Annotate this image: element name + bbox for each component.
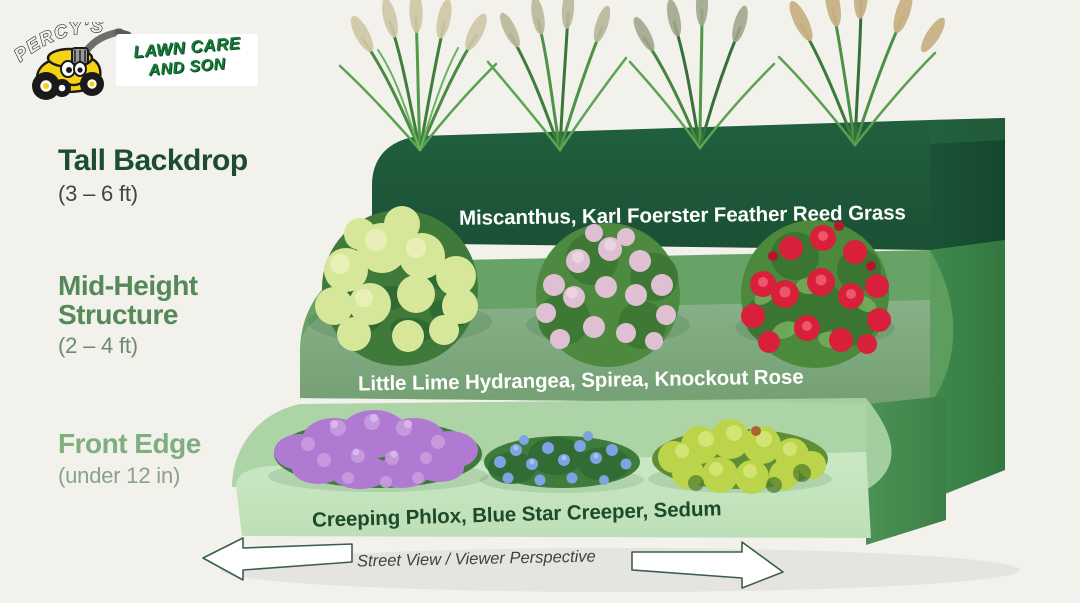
tier-label-front-edge: Front Edge (under 12 in) (58, 430, 201, 489)
tier-height-front: (under 12 in) (58, 463, 201, 489)
company-logo[interactable]: PERCY'S (8, 6, 258, 106)
tier-tall-top-ridge (930, 118, 1005, 144)
tier-label-mid-height: Mid-Height Structure (2 – 4 ft) (58, 272, 198, 359)
logo-wordmark: LAWN CARE AND SON (116, 34, 258, 86)
tier-title-front: Front Edge (58, 430, 201, 459)
tier-title-tall: Tall Backdrop (58, 146, 248, 177)
tier-height-tall: (3 – 6 ft) (58, 181, 248, 207)
tier-title-mid-line1: Mid-Height (58, 272, 198, 301)
tier-height-mid: (2 – 4 ft) (58, 333, 198, 359)
tier-label-tall-backdrop: Tall Backdrop (3 – 6 ft) (58, 146, 248, 207)
infographic-canvas: PERCY'S (0, 0, 1080, 603)
tier-title-mid-line2: Structure (58, 301, 198, 330)
